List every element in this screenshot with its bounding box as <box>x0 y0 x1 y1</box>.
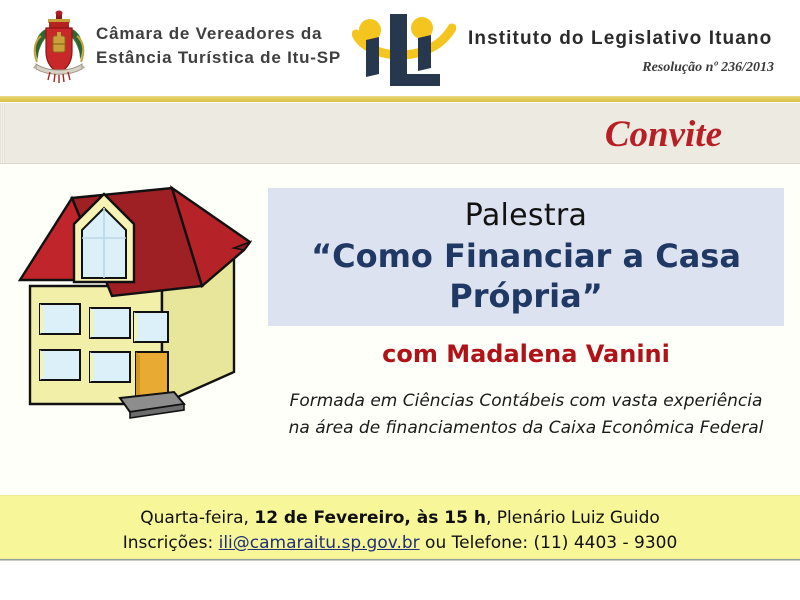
ili-resolution: Resolução nº 236/2013 <box>642 60 774 76</box>
speaker-name: com Madalena Vanini <box>268 340 784 368</box>
ili-institute-title: Instituto do Legislativo Ituano <box>468 28 772 50</box>
speaker-bio-line-2: na área de financiamentos da Caixa Econô… <box>262 415 790 442</box>
gold-divider <box>0 96 800 102</box>
weekday-text: Quarta-feira, <box>140 508 254 528</box>
header: Câmara de Vereadores da Estância Turísti… <box>0 0 800 96</box>
lecture-title-line-2: Própria” <box>268 276 784 316</box>
palestra-label: Palestra <box>268 198 784 233</box>
main-content: Palestra “Como Financiar a Casa Própria”… <box>0 164 800 494</box>
registration-line: Inscrições: ili@camaraitu.sp.gov.br ou T… <box>0 533 800 553</box>
speaker-bio: Formada em Ciências Contábeis com vasta … <box>262 388 790 442</box>
invitation-flyer: Câmara de Vereadores da Estância Turísti… <box>0 0 800 600</box>
date-time-text: 12 de Fevereiro, às 15 h <box>254 508 486 528</box>
venue-text: , Plenário Luiz Guido <box>486 508 660 528</box>
event-datetime-line: Quarta-feira, 12 de Fevereiro, às 15 h, … <box>0 508 800 528</box>
camara-title: Câmara de Vereadores da Estância Turísti… <box>96 22 341 70</box>
convite-banner: Convite <box>0 103 800 164</box>
lecture-title: “Como Financiar a Casa Própria” <box>268 236 784 316</box>
ili-logo-icon <box>352 6 456 90</box>
camara-line-2: Estância Turística de Itu-SP <box>96 46 341 70</box>
camara-line-1: Câmara de Vereadores da <box>96 22 341 46</box>
registration-label: Inscrições: <box>123 533 219 553</box>
coat-of-arms-icon <box>28 10 90 84</box>
phone-text: ou Telefone: (11) 4403 - 9300 <box>420 533 678 553</box>
house-illustration-icon <box>12 176 258 420</box>
lecture-title-box: Palestra “Como Financiar a Casa Própria” <box>268 188 784 326</box>
lecture-title-line-1: “Como Financiar a Casa <box>268 236 784 276</box>
convite-title: Convite <box>605 113 722 156</box>
event-details-footer: Quarta-feira, 12 de Fevereiro, às 15 h, … <box>0 495 800 561</box>
registration-email-link[interactable]: ili@camaraitu.sp.gov.br <box>219 533 420 553</box>
banner-left-edge <box>0 103 5 163</box>
speaker-bio-line-1: Formada em Ciências Contábeis com vasta … <box>262 388 790 415</box>
bottom-spacer <box>0 561 800 600</box>
